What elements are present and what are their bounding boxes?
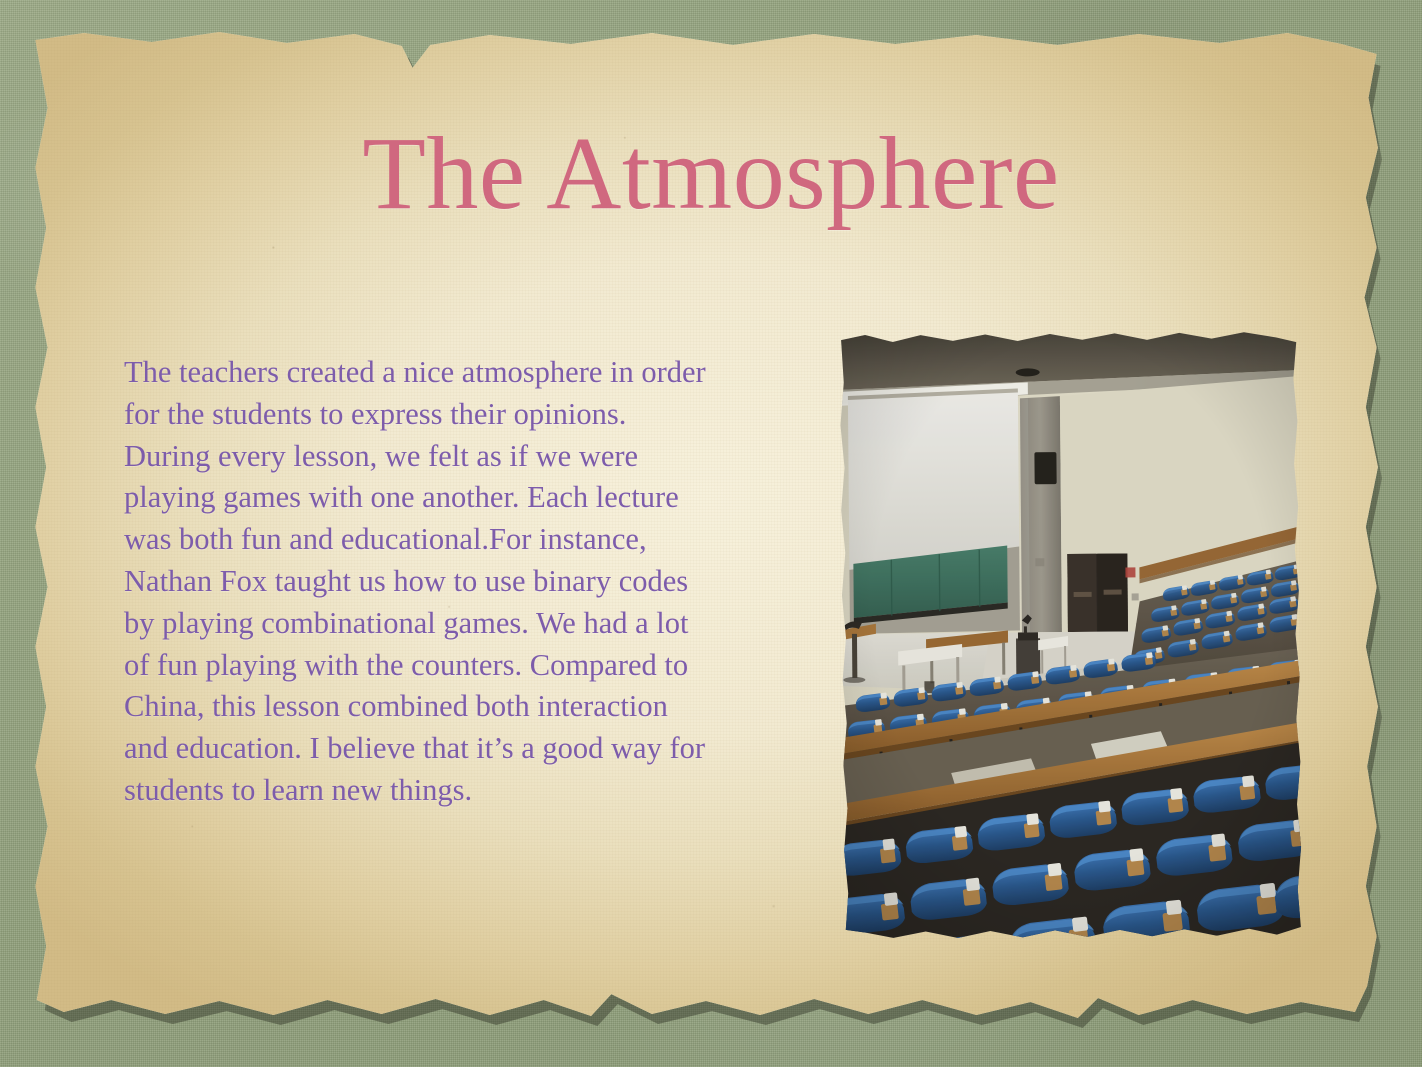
page-title: The Atmosphere <box>0 118 1422 230</box>
lecture-hall-illustration <box>837 330 1304 942</box>
lecture-hall-photo <box>837 330 1304 942</box>
body-paragraph: The teachers created a nice atmosphere i… <box>124 352 714 812</box>
presentation-slide: The Atmosphere The teachers created a ni… <box>0 0 1422 1067</box>
photo-torn-frame <box>837 330 1304 942</box>
